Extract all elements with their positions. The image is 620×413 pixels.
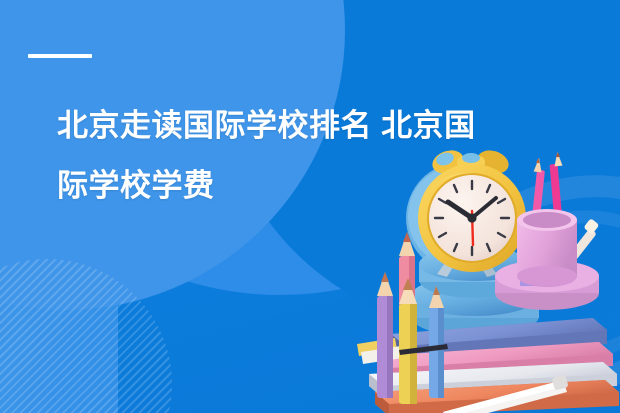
illustration-artwork [355,148,620,413]
pencil-cup [517,209,577,287]
background-hatch-disc [0,259,172,413]
banner: 北京走读国际学校排名 北京国 际学校学费 [0,0,620,413]
standing-pencil-blue [429,286,444,398]
standing-pencil-yellow [399,278,417,404]
accent-rule [28,54,92,58]
standing-pencil-purple [377,272,393,398]
